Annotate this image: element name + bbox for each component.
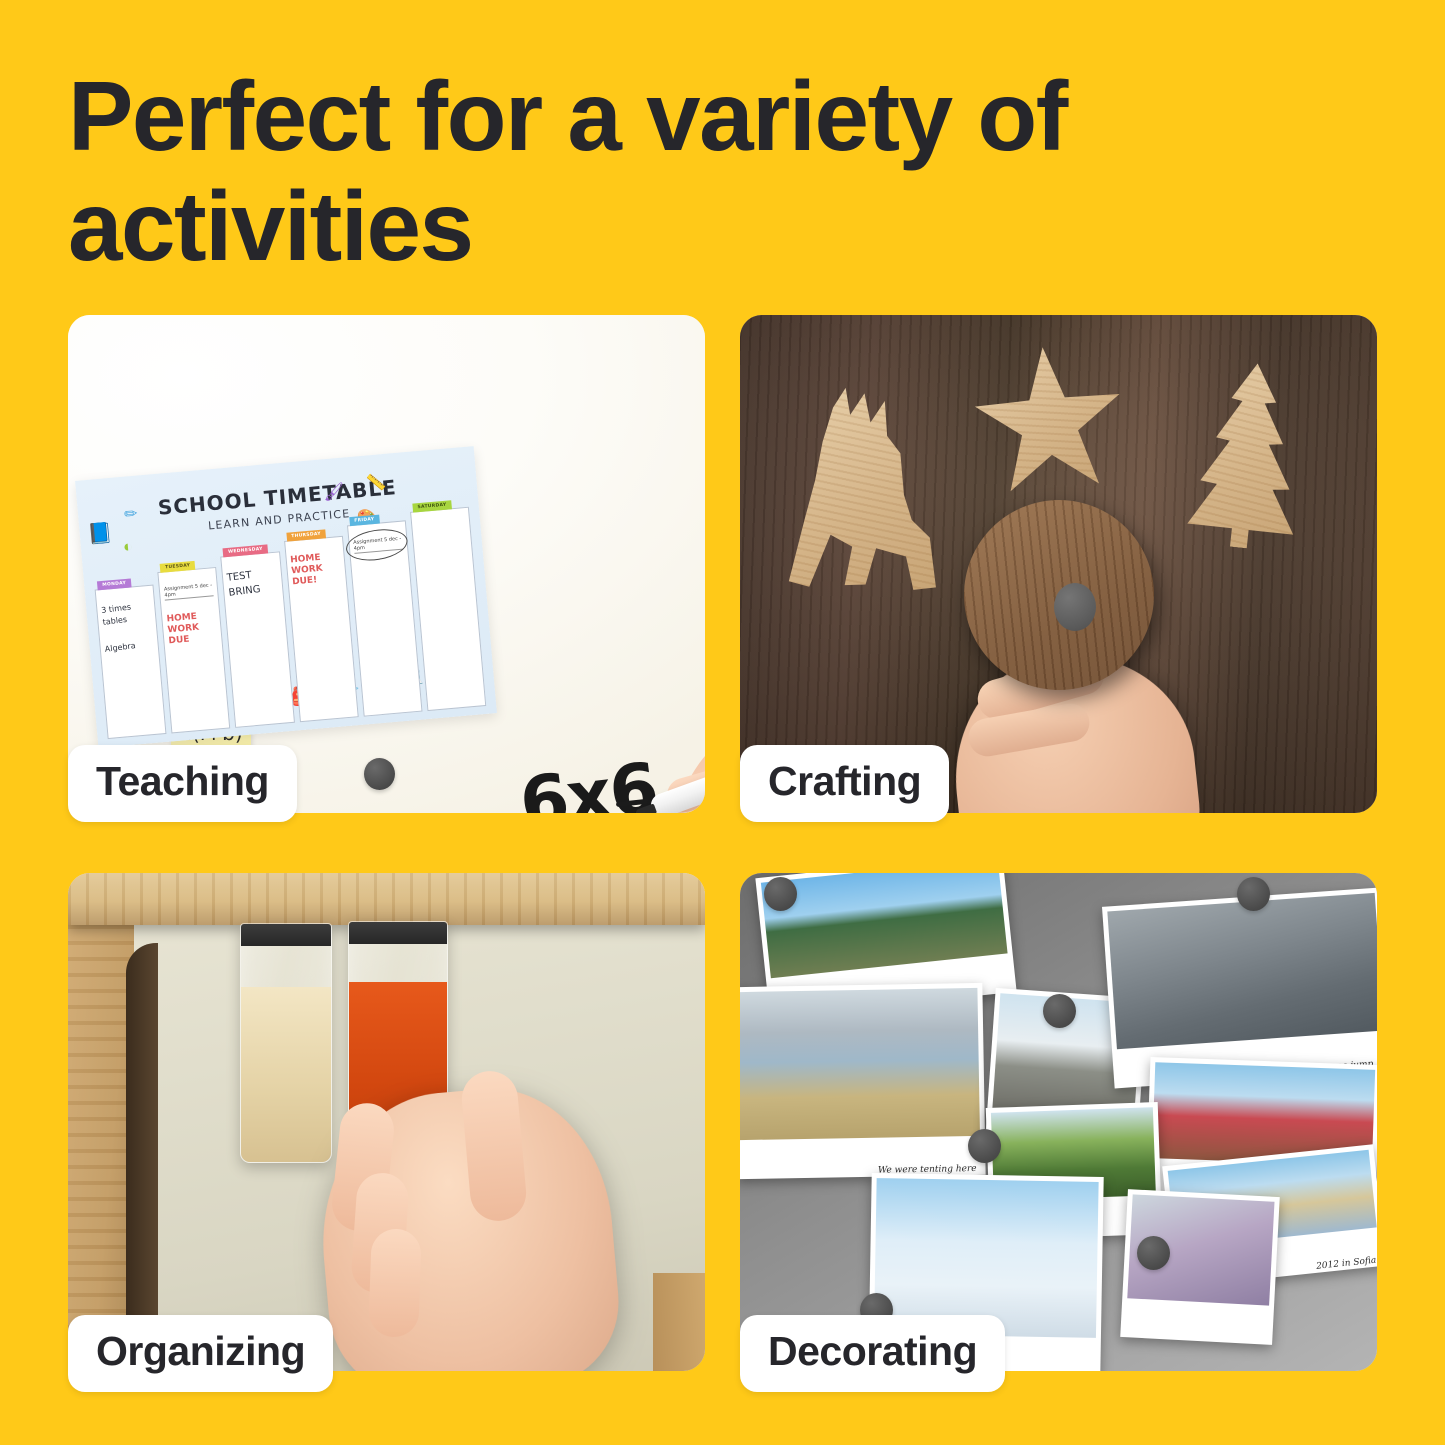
timetable-day-tag: TUESDAY: [160, 561, 196, 573]
timetable-day-tag: THURSDAY: [286, 529, 326, 541]
cabinet-shadow-gap: [126, 943, 158, 1371]
timetable-columns: MONDAY 3 times tables Algebra TUESDAY As…: [93, 533, 487, 739]
timetable-entry: TEST BRING: [226, 566, 278, 601]
wooden-disc-with-magnet: [964, 500, 1154, 690]
timetable-column: THURSDAY HOME WORK DUE!: [284, 536, 359, 722]
book-doodle-icon: 📘: [87, 520, 114, 547]
magnet-icon: [1237, 877, 1270, 911]
magnet-icon: [764, 877, 797, 911]
photo-image: [761, 873, 1008, 978]
timetable-entry: HOME WORK DUE!: [290, 551, 342, 588]
timetable-day-tag: SATURDAY: [412, 500, 452, 512]
magnet-icon: [968, 1129, 1001, 1163]
teaching-scene: 2(l+b) 📘 ✏ ◐ 🖌 📏 🎨 📖 ◢ ✎ 🎒 ✒ 💻 SCHOOL TI…: [68, 315, 705, 813]
photo-item: 1st bungee jump :): [1102, 888, 1377, 1089]
wooden-shelf: [68, 873, 705, 925]
activity-card-crafting[interactable]: [740, 315, 1377, 813]
card-label-organizing[interactable]: Organizing: [68, 1315, 333, 1392]
organizing-scene: [68, 873, 705, 1371]
cabinet-side-panel: [68, 925, 134, 1371]
decorating-scene: We were tenting here Oh India! 1st bunge…: [740, 873, 1377, 1371]
activity-card-teaching[interactable]: 2(l+b) 📘 ✏ ◐ 🖌 📏 🎨 📖 ◢ ✎ 🎒 ✒ 💻 SCHOOL TI…: [68, 315, 705, 813]
timetable-day-tag: MONDAY: [97, 578, 132, 590]
circle-annotation: [344, 525, 410, 564]
card-label-crafting[interactable]: Crafting: [740, 745, 949, 822]
magnet-icon: [1137, 1236, 1170, 1270]
timetable-entry: Algebra: [104, 638, 154, 655]
timetable-day-tag: FRIDAY: [349, 515, 380, 527]
crafting-scene: [740, 315, 1377, 813]
activity-card-grid: 2(l+b) 📘 ✏ ◐ 🖌 📏 🎨 📖 ◢ ✎ 🎒 ✒ 💻 SCHOOL TI…: [68, 315, 1377, 1390]
photo-image: [1107, 893, 1377, 1049]
school-timetable-poster: 📘 ✏ ◐ 🖌 📏 🎨 📖 ◢ ✎ 🎒 ✒ 💻 SCHOOL TIMETABLE…: [75, 446, 497, 748]
paintbrush-doodle-icon: 🖌: [322, 482, 345, 504]
timetable-entry: Assignment 5 dec - 4pm: [164, 582, 214, 600]
jar-contents: [241, 987, 331, 1162]
timetable-column: TUESDAY Assignment 5 dec - 4pm HOME WORK…: [158, 567, 231, 734]
spice-jar: [240, 923, 332, 1163]
photo-item: We were tenting here: [740, 983, 986, 1179]
magnet-icon: [1054, 583, 1096, 631]
magnet-icon: [1043, 994, 1076, 1028]
activity-card-decorating[interactable]: We were tenting here Oh India! 1st bunge…: [740, 873, 1377, 1371]
timetable-entry: HOME WORK DUE: [166, 610, 218, 647]
photo-image: [874, 1178, 1099, 1338]
timetable-entry: 3 times tables: [101, 599, 153, 628]
card-label-teaching[interactable]: Teaching: [68, 745, 297, 822]
jar-lid: [240, 924, 332, 946]
protractor-doodle-icon: ◐: [122, 538, 133, 557]
timetable-column: FRIDAY Assignment 5 dec - 4pm: [347, 520, 423, 716]
cabinet-right-panel: [653, 1273, 705, 1371]
photo-image: [740, 988, 980, 1140]
timetable-column: SATURDAY: [410, 507, 486, 711]
page-title: Perfect for a variety of activities: [68, 62, 1308, 282]
pen-doodle-icon: ✏: [123, 504, 138, 525]
timetable-column: WEDNESDAY TEST BRING: [221, 551, 295, 728]
card-label-decorating[interactable]: Decorating: [740, 1315, 1005, 1392]
finger: [368, 1228, 422, 1338]
ruler-doodle-icon: 📏: [366, 472, 388, 494]
activity-card-organizing[interactable]: [68, 873, 705, 1371]
jar-lid: [348, 922, 448, 944]
timetable-day-tag: WEDNESDAY: [223, 544, 268, 557]
timetable-column: MONDAY 3 times tables Algebra: [95, 584, 167, 739]
magnet-icon: [364, 758, 395, 790]
